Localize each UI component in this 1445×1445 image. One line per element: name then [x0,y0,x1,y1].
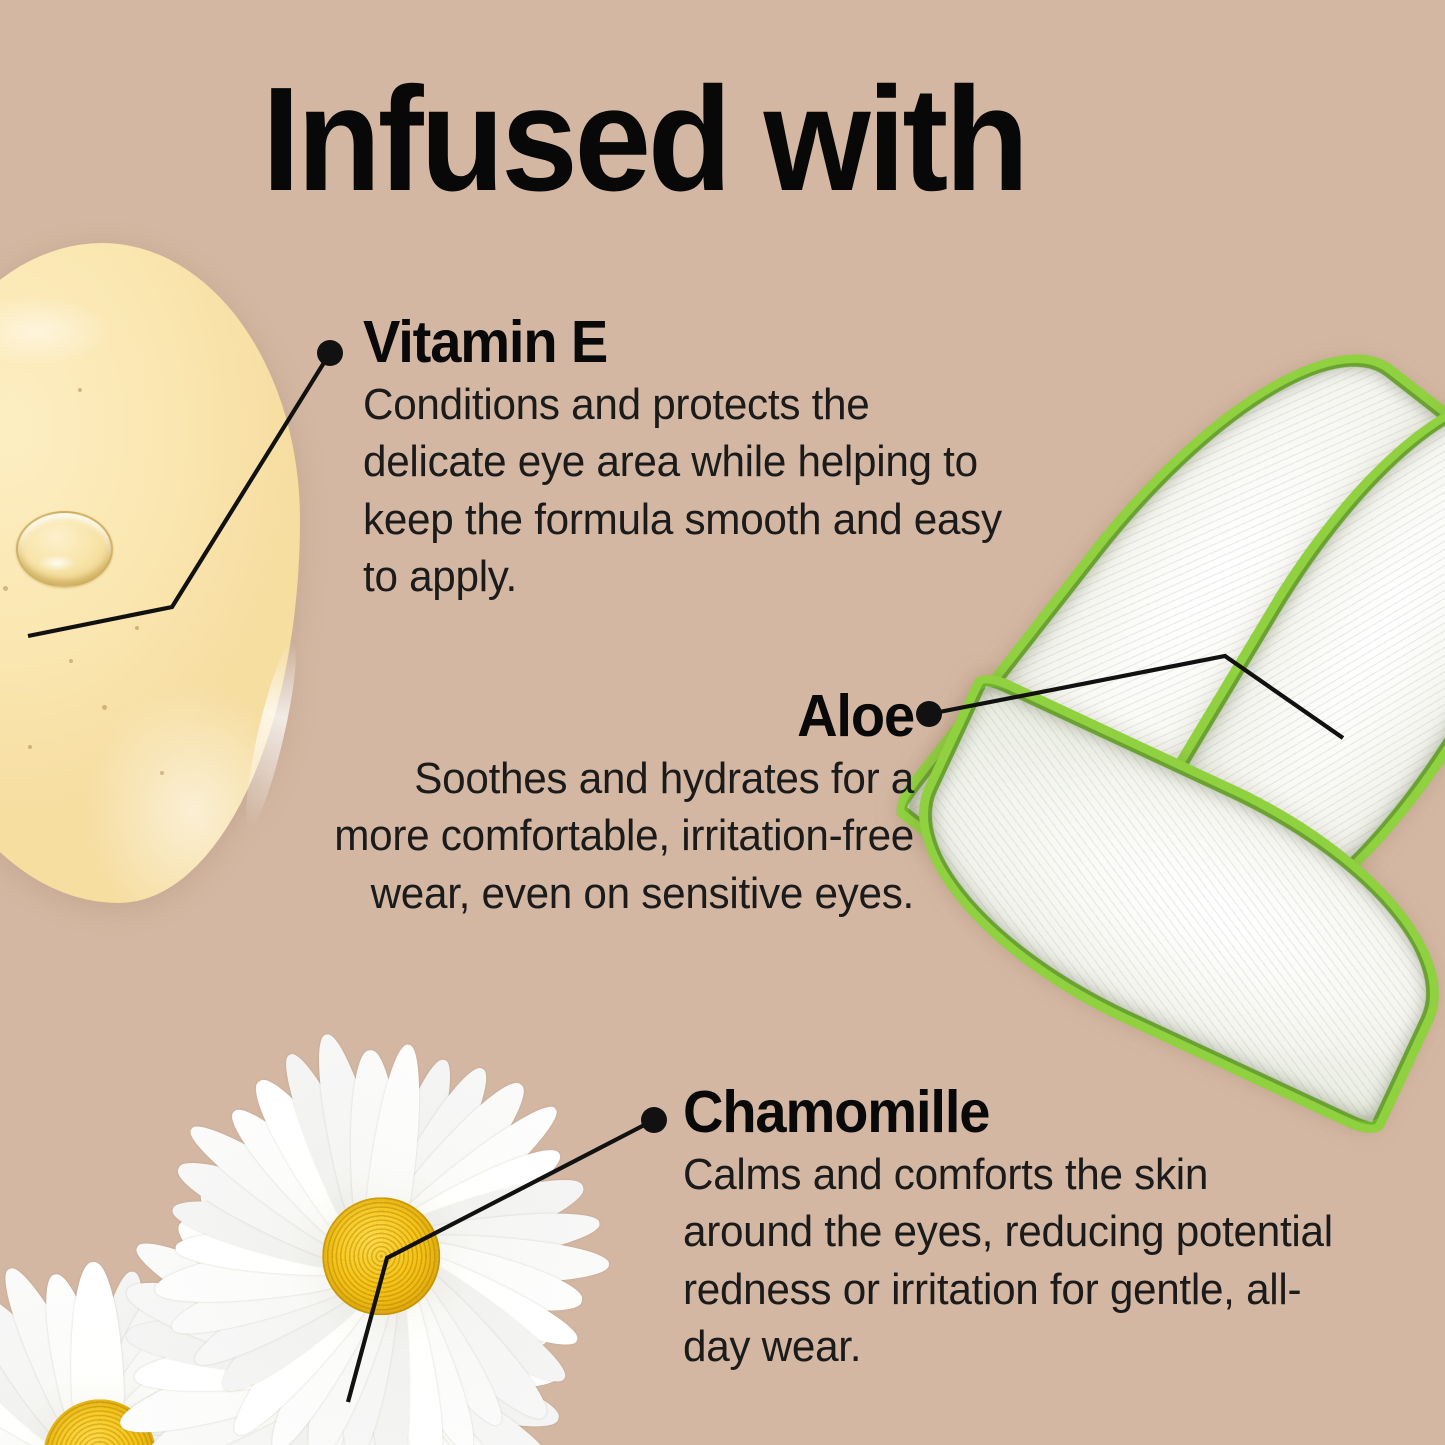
leader-dot-chamomille [641,1107,667,1133]
leader-line-vitamin-e [28,353,330,636]
leader-line-chamomille [348,1120,654,1402]
ingredient-name-chamomille: Chamomille [683,1082,1329,1142]
ingredient-description-chamomille: Calms and comforts the skin around the e… [683,1146,1336,1375]
ingredient-block-aloe: Aloe Soothes and hydrates for a more com… [300,686,914,922]
ingredient-description-vitamin-e: Conditions and protects the delicate eye… [363,376,1016,605]
ingredient-name-vitamin-e: Vitamin E [363,312,1009,372]
page-title: Infused with [262,66,1026,214]
ingredient-name-aloe: Aloe [331,686,914,746]
ingredient-block-vitamin-e: Vitamin E Conditions and protects the de… [363,312,1043,605]
ingredient-block-chamomille: Chamomille Calms and comforts the skin a… [683,1082,1363,1375]
ingredient-infographic: Infused with Vitamin E Conditions and pr… [0,0,1445,1445]
leader-dot-vitamin-e [317,340,343,366]
ingredient-description-aloe: Soothes and hydrates for a more comforta… [325,750,914,922]
leader-line-aloe [929,656,1343,738]
leader-dot-aloe [916,701,942,727]
